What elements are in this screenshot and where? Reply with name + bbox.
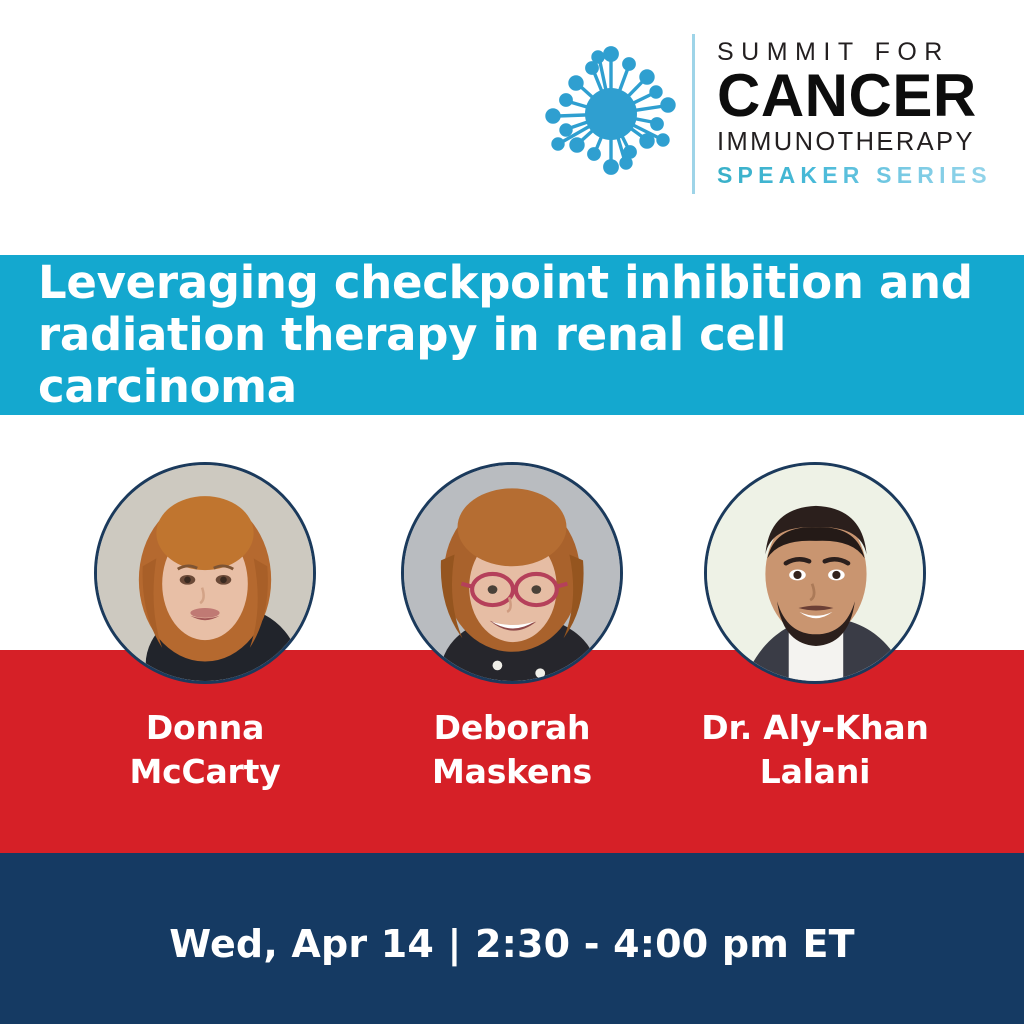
logo-header: SUMMIT FOR CANCER IMMUNOTHERAPY SPEAKER … (0, 0, 1024, 255)
speaker-photo-donna-mccarty (94, 462, 316, 684)
logo-lockup: SUMMIT FOR CANCER IMMUNOTHERAPY SPEAKER … (540, 28, 992, 200)
speaker-card: Dr. Aly-Khan Lalani (665, 415, 965, 853)
logo-wordmark: SUMMIT FOR CANCER IMMUNOTHERAPY SPEAKER … (717, 40, 992, 188)
starburst-icon (540, 34, 682, 194)
speaker-photo-aly-khan-lalani (704, 462, 926, 684)
title-banner: Leveraging checkpoint inhibition and rad… (0, 255, 1024, 415)
speaker-card: Donna McCarty (55, 415, 355, 853)
logo-line-immunotherapy: IMMUNOTHERAPY (717, 129, 992, 156)
speaker-name: Donna McCarty (129, 706, 280, 794)
event-datetime-bar: Wed, Apr 14 | 2:30 - 4:00 pm ET (0, 853, 1024, 1024)
speakers-row: Donna McCarty (0, 415, 1024, 853)
page-title: Leveraging checkpoint inhibition and rad… (0, 257, 1024, 414)
logo-line-speaker-series: SPEAKER SERIES (717, 163, 992, 188)
speaker-name: Deborah Maskens (432, 706, 592, 794)
logo-divider (692, 34, 695, 194)
speaker-name: Dr. Aly-Khan Lalani (701, 706, 928, 794)
speaker-photo-deborah-maskens (401, 462, 623, 684)
speaker-card: Deborah Maskens (362, 415, 662, 853)
logo-line-cancer: CANCER (717, 67, 992, 126)
event-datetime: Wed, Apr 14 | 2:30 - 4:00 pm ET (169, 922, 855, 966)
